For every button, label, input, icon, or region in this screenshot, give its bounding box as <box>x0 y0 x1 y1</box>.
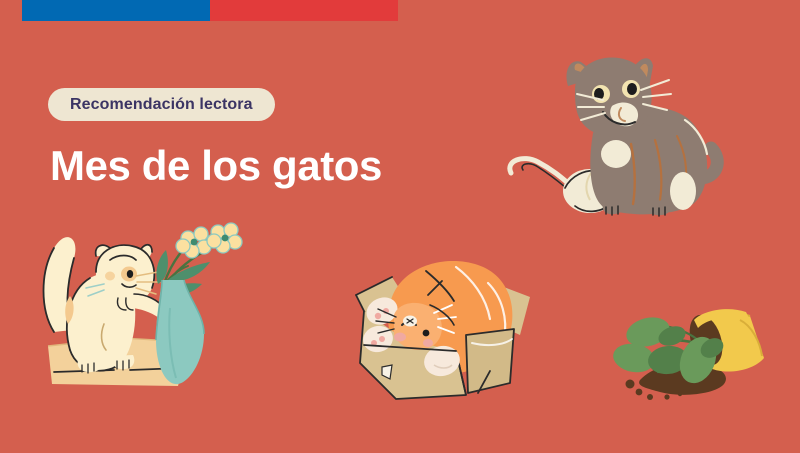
vase-with-flowers-icon <box>156 223 242 384</box>
page-title: Mes de los gatos <box>50 143 382 189</box>
flag-blue-segment <box>22 0 210 21</box>
illustration-knocked-over-plant <box>612 298 777 408</box>
flag-red-segment <box>210 0 398 21</box>
illustration-orange-cat-in-box <box>338 243 553 408</box>
banner-root: Recomendación lectora Mes de los gatos <box>0 0 800 453</box>
illustration-cream-cat-pushing-vase <box>18 218 258 403</box>
status-badge: Recomendación lectora <box>48 88 275 121</box>
illustration-grey-cat-with-toy-mouse <box>505 28 735 233</box>
chile-flag-bar <box>22 0 398 21</box>
